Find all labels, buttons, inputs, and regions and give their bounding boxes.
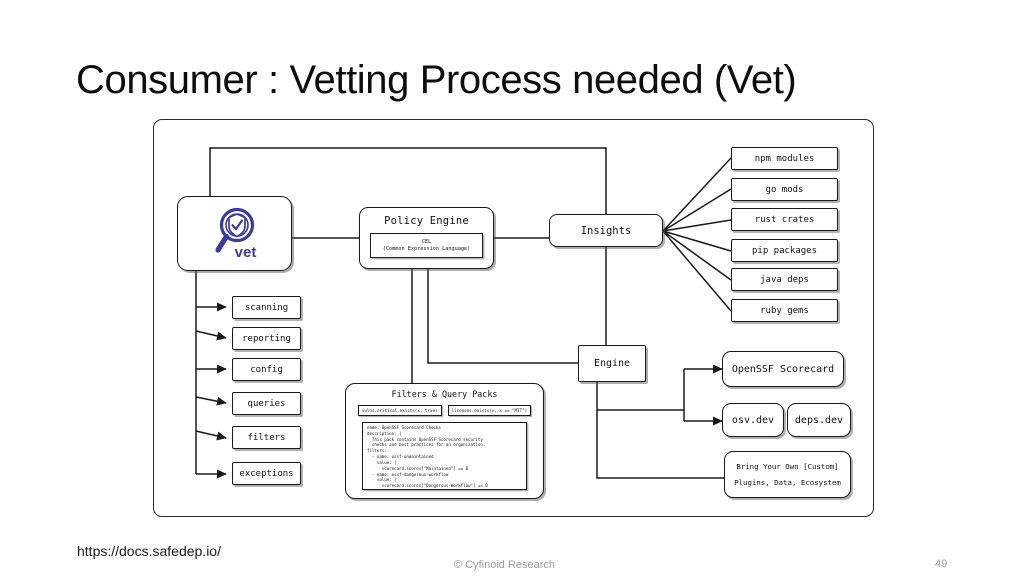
ecosystem-box-pip[interactable]: pip packages xyxy=(731,239,838,262)
footer-page-number: 49 xyxy=(935,558,947,570)
ecosystem-box-rust[interactable]: rust crates xyxy=(731,208,838,231)
command-box-filters[interactable]: filters xyxy=(232,426,301,449)
command-box-scanning[interactable]: scanning xyxy=(232,296,301,319)
policy-engine-node[interactable]: Policy Engine CEL (Common Expression Lan… xyxy=(359,207,494,269)
cel-box: CEL (Common Expression Language) xyxy=(370,233,483,258)
policy-engine-title: Policy Engine xyxy=(384,215,469,227)
ecosystem-box-npm[interactable]: npm modules xyxy=(731,147,838,170)
bring-your-own-box[interactable]: Bring Your Own [Custom] Plugins, Data, E… xyxy=(724,451,851,498)
source-box-osv-dev[interactable]: osv.dev xyxy=(722,403,784,437)
page-title: Consumer : Vetting Process needed (Vet) xyxy=(76,58,796,103)
slide-canvas: Consumer : Vetting Process needed (Vet) xyxy=(0,0,1024,576)
command-box-config[interactable]: config xyxy=(232,358,301,381)
source-box-openssf-scorecard[interactable]: OpenSSF Scorecard xyxy=(722,351,844,387)
query-pack-yaml: name: OpenSSF Scorecard Checks descripti… xyxy=(367,425,522,489)
footer-copyright: © Cyfinoid Research xyxy=(454,559,555,571)
command-box-reporting[interactable]: reporting xyxy=(232,327,301,350)
command-box-exceptions[interactable]: exceptions xyxy=(232,462,301,485)
ecosystem-box-go[interactable]: go mods xyxy=(731,178,838,201)
vet-logo-box[interactable]: vet xyxy=(177,196,292,271)
query-chip-row: vulns.critical.exists(x, true) licenses.… xyxy=(358,405,531,416)
ecosystem-box-ruby[interactable]: ruby gems xyxy=(731,299,838,322)
insights-node[interactable]: Insights xyxy=(549,214,663,247)
query-chip-licenses[interactable]: licenses.exists(x, x == "MIT") xyxy=(448,405,532,416)
bring-your-own-line2: Plugins, Data, Ecosystem xyxy=(734,478,841,487)
filters-query-packs-title: Filters & Query Packs xyxy=(392,389,498,399)
footer-url[interactable]: https://docs.safedep.io/ xyxy=(77,543,221,559)
cel-subtitle: (Common Expression Language) xyxy=(383,246,470,253)
source-box-deps-dev[interactable]: deps.dev xyxy=(787,403,851,437)
engine-node[interactable]: Engine xyxy=(578,345,646,382)
filters-query-packs-panel[interactable]: Filters & Query Packs vulns.critical.exi… xyxy=(345,383,544,499)
query-chip-vulns[interactable]: vulns.critical.exists(x, true) xyxy=(358,405,442,416)
command-box-queries[interactable]: queries xyxy=(232,392,301,415)
vet-logo-label: vet xyxy=(235,244,257,261)
bring-your-own-line1: Bring Your Own [Custom] xyxy=(736,462,838,471)
ecosystem-box-java[interactable]: java deps xyxy=(731,268,838,291)
query-pack-code-block: name: OpenSSF Scorecard Checks descripti… xyxy=(362,422,527,490)
